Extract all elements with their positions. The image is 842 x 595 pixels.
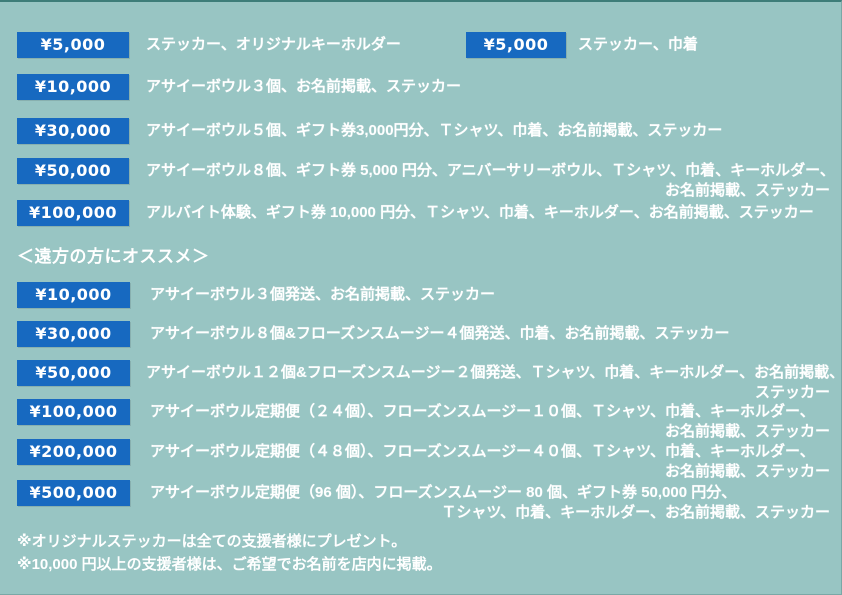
footnotes: ※オリジナルステッカーは全ての支援者様にプレゼント。※10,000 円以上の支援… bbox=[17, 530, 442, 577]
section-header-remote: ＜遠方の方にオススメ＞ bbox=[17, 242, 210, 267]
reward-description-line: アサイーボウル８個、ギフト券 5,000 円分、アニバーサリーボウル、Ｔシャツ、… bbox=[146, 161, 830, 181]
reward-description: アサイーボウル８個、ギフト券 5,000 円分、アニバーサリーボウル、Ｔシャツ、… bbox=[146, 161, 830, 202]
reward-description-continuation: お名前掲載、ステッカー bbox=[146, 181, 830, 201]
reward-description-line: アルバイト体験、ギフト券 10,000 円分、Ｔシャツ、巾着、キーホルダー、お名… bbox=[146, 203, 830, 223]
reward-description-line: アサイーボウル８個&フローズンスムージー４個発送、巾着、お名前掲載、ステッカー bbox=[150, 324, 830, 344]
reward-description: アサイーボウル５個、ギフト券3,000円分、Ｔシャツ、巾着、お名前掲載、ステッカ… bbox=[146, 121, 830, 141]
footnote-line: ※オリジナルステッカーは全ての支援者様にプレゼント。 bbox=[17, 530, 442, 553]
reward-description-line: アサイーボウル１２個&フローズンスムージー２個発送、Ｔシャツ、巾着、キーホルダー… bbox=[146, 363, 830, 383]
reward-description: アルバイト体験、ギフト券 10,000 円分、Ｔシャツ、巾着、キーホルダー、お名… bbox=[146, 203, 830, 223]
reward-amount-badge[interactable]: ¥50,000 bbox=[17, 158, 129, 184]
reward-amount-badge[interactable]: ¥10,000 bbox=[17, 74, 129, 100]
reward-amount-badge[interactable]: ¥50,000 bbox=[17, 360, 130, 386]
reward-description-continuation: お名前掲載、ステッカー bbox=[150, 422, 830, 442]
reward-description-line: アサイーボウル定期便（96 個）、フローズンスムージー 80 個、ギフト券 50… bbox=[150, 483, 830, 503]
reward-description-line: アサイーボウル３個、お名前掲載、ステッカー bbox=[146, 77, 830, 97]
reward-list-page: ¥5,000ステッカー、オリジナルキーホルダー¥5,000ステッカー、巾着¥10… bbox=[0, 0, 842, 595]
reward-amount-badge[interactable]: ¥5,000 bbox=[17, 32, 129, 58]
reward-description-line: アサイーボウル３個発送、お名前掲載、ステッカー bbox=[150, 285, 830, 305]
reward-description: アサイーボウル１２個&フローズンスムージー２個発送、Ｔシャツ、巾着、キーホルダー… bbox=[146, 363, 830, 404]
reward-amount-badge[interactable]: ¥500,000 bbox=[17, 480, 130, 506]
reward-description: アサイーボウル定期便（96 個）、フローズンスムージー 80 個、ギフト券 50… bbox=[150, 483, 830, 524]
reward-amount-badge[interactable]: ¥5,000 bbox=[466, 32, 566, 58]
reward-amount-badge[interactable]: ¥100,000 bbox=[17, 200, 129, 226]
reward-description: アサイーボウル定期便（２４個）、フローズンスムージー１０個、Ｔシャツ、巾着、キー… bbox=[150, 402, 830, 443]
reward-description-continuation: Ｔシャツ、巾着、キーホルダー、お名前掲載、ステッカー bbox=[150, 503, 830, 523]
footnote-line: ※10,000 円以上の支援者様は、ご希望でお名前を店内に掲載。 bbox=[17, 553, 442, 576]
reward-description: ステッカー、巾着 bbox=[578, 35, 830, 55]
reward-description: アサイーボウル８個&フローズンスムージー４個発送、巾着、お名前掲載、ステッカー bbox=[150, 324, 830, 344]
reward-amount-badge[interactable]: ¥30,000 bbox=[17, 321, 130, 347]
reward-description-continuation: ステッカー bbox=[146, 383, 830, 403]
reward-description: アサイーボウル３個、お名前掲載、ステッカー bbox=[146, 77, 830, 97]
reward-amount-badge[interactable]: ¥100,000 bbox=[17, 399, 130, 425]
reward-description-line: ステッカー、巾着 bbox=[578, 35, 830, 55]
reward-amount-badge[interactable]: ¥10,000 bbox=[17, 282, 130, 308]
reward-description: アサイーボウル３個発送、お名前掲載、ステッカー bbox=[150, 285, 830, 305]
reward-amount-badge[interactable]: ¥200,000 bbox=[17, 439, 130, 465]
reward-amount-badge[interactable]: ¥30,000 bbox=[17, 118, 129, 144]
reward-description-line: アサイーボウル定期便（４８個）、フローズンスムージー４０個、Ｔシャツ、巾着、キー… bbox=[150, 442, 830, 462]
reward-description-continuation: お名前掲載、ステッカー bbox=[150, 462, 830, 482]
reward-description: アサイーボウル定期便（４８個）、フローズンスムージー４０個、Ｔシャツ、巾着、キー… bbox=[150, 442, 830, 483]
reward-description-line: アサイーボウル５個、ギフト券3,000円分、Ｔシャツ、巾着、お名前掲載、ステッカ… bbox=[146, 121, 830, 141]
reward-description-line: アサイーボウル定期便（２４個）、フローズンスムージー１０個、Ｔシャツ、巾着、キー… bbox=[150, 402, 830, 422]
